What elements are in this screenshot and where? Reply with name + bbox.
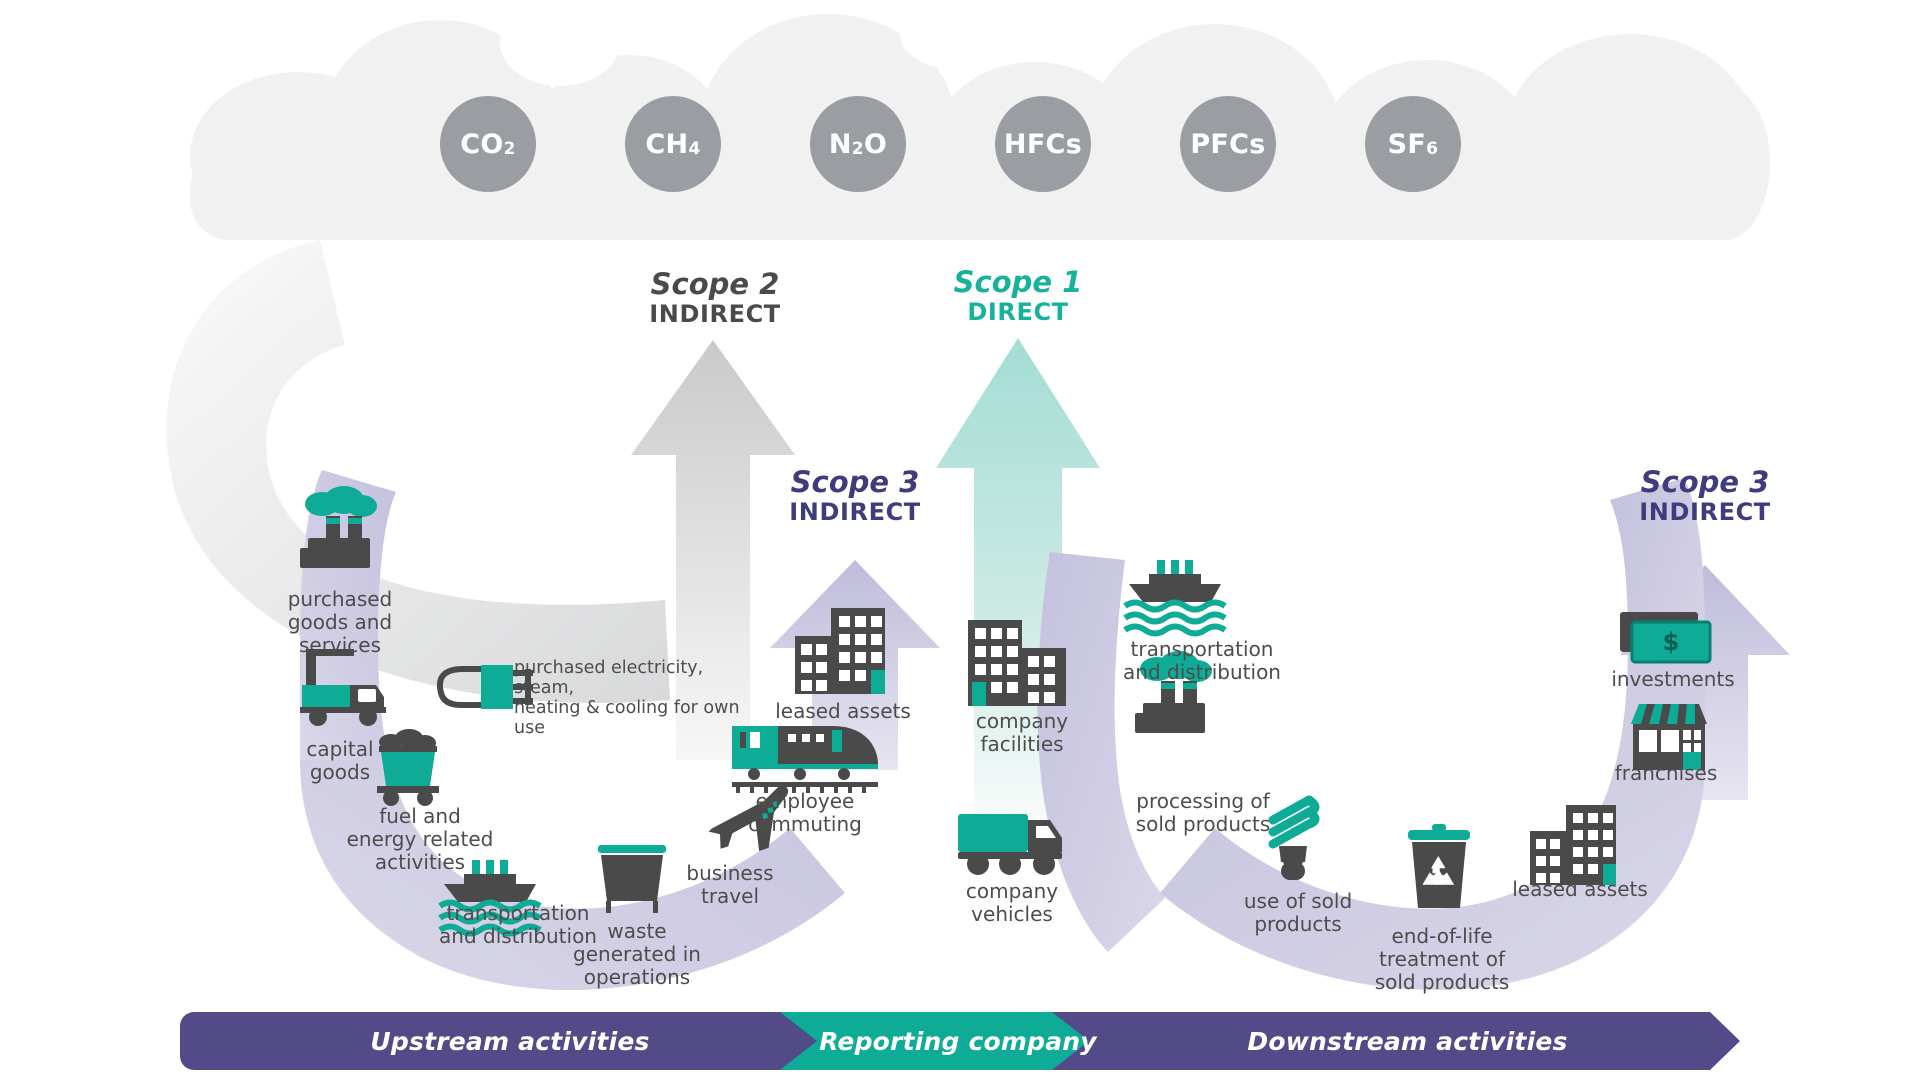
label-end-of-life-treatment-of-sold-products: end-of-life treatment of sold products — [1368, 925, 1516, 994]
scope3-downstream-heading: Scope 3 INDIRECT — [1585, 466, 1825, 527]
train-icon — [732, 726, 878, 793]
label-capital-goods: capital goods — [280, 738, 400, 784]
scope2-kind: INDIRECT — [595, 301, 835, 329]
office-buildings-icon — [1530, 805, 1616, 885]
label-waste-generated-in-operations: waste generated in operations — [570, 920, 704, 989]
label-fuel-and-energy-related-activities: fuel and energy related activities — [330, 805, 510, 874]
scope1-kind: DIRECT — [898, 299, 1138, 327]
scope3-upstream-heading: Scope 3 INDIRECT — [735, 466, 975, 527]
banner-reporting-company: Reporting company — [798, 1012, 1118, 1070]
money-icon: $ — [1620, 612, 1710, 662]
value-chain-banner: Upstream activities Reporting company Do… — [180, 1012, 1740, 1070]
label-company-facilities: company facilities — [952, 710, 1092, 756]
banner-reporting-label: Reporting company — [819, 1027, 1097, 1056]
label-business-travel: business travel — [670, 862, 790, 908]
label-transportation-and-distribution-downstream: transportation and distribution — [1104, 638, 1300, 684]
label-purchased-electricity-note: purchased electricity, steam, heating & … — [514, 658, 744, 739]
svg-text:$: $ — [1663, 628, 1680, 656]
label-leased-assets-upstream: leased assets — [758, 700, 928, 723]
label-employee-commuting: employee commuting — [730, 790, 880, 836]
banner-upstream-label: Upstream activities — [370, 1027, 649, 1056]
banner-downstream: Downstream activities — [1080, 1012, 1735, 1070]
scope3-downstream-name: Scope 3 — [1585, 466, 1825, 499]
scope3-downstream-kind: INDIRECT — [1585, 499, 1825, 527]
scope2-heading: Scope 2 INDIRECT — [595, 268, 835, 329]
cargo-ship-icon — [1125, 560, 1225, 634]
delivery-truck-icon — [958, 814, 1062, 875]
label-franchises: franchises — [1598, 762, 1734, 785]
banner-downstream-label: Downstream activities — [1247, 1027, 1567, 1056]
scope2-name: Scope 2 — [595, 268, 835, 301]
scope1-name: Scope 1 — [898, 266, 1138, 299]
scope3-upstream-name: Scope 3 — [735, 466, 975, 499]
label-investments: investments — [1598, 668, 1748, 691]
recycle-bin-icon — [1408, 824, 1470, 908]
label-use-of-sold-products: use of sold products — [1228, 890, 1368, 936]
ghg-scopes-diagram: CO2 CH4 N2O HFCs PFCs SF6 — [0, 0, 1920, 1080]
banner-upstream: Upstream activities — [180, 1012, 840, 1070]
label-purchased-goods-and-services: purchased goods and services — [262, 588, 418, 657]
label-processing-of-sold-products: processing of sold products — [1118, 790, 1288, 836]
scope3-upstream-kind: INDIRECT — [735, 499, 975, 527]
label-leased-assets-downstream: leased assets — [1500, 878, 1660, 901]
label-company-vehicles: company vehicles — [942, 880, 1082, 926]
scope1-heading: Scope 1 DIRECT — [898, 266, 1138, 327]
